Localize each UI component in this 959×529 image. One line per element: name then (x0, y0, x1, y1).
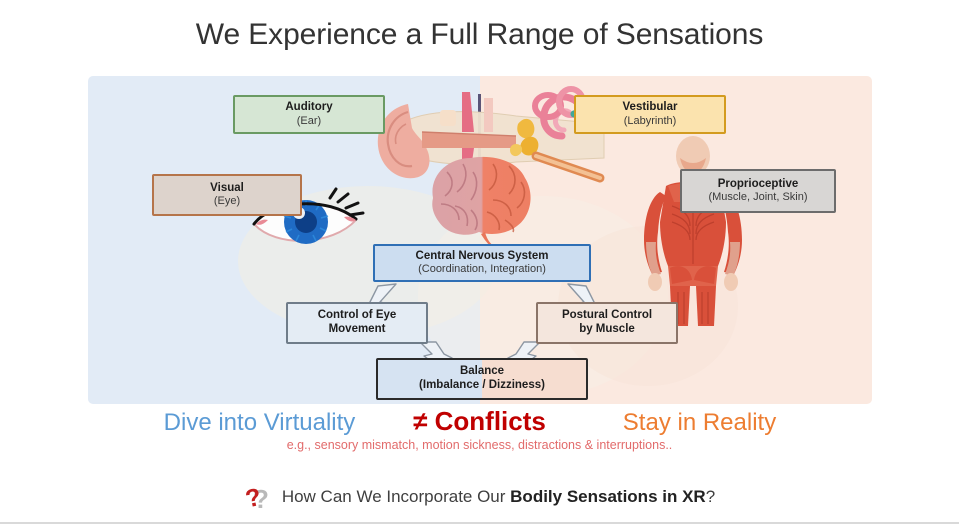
cns-subtitle: (Coordination, Integration) (418, 263, 546, 276)
postural-title: Postural Control (562, 309, 652, 323)
label-box-control-of-eye-movement[interactable]: Control of Eye Movement (286, 302, 428, 344)
page-title: We Experience a Full Range of Sensations (0, 18, 959, 52)
question-mark-icon: ? ? (244, 483, 278, 513)
auditory-title: Auditory (285, 101, 332, 115)
visual-subtitle: (Eye) (214, 195, 240, 208)
question-tail: ? (706, 487, 715, 506)
slide-canvas: We Experience a Full Range of Sensations (0, 0, 959, 529)
postural-subtitle: by Muscle (579, 323, 635, 337)
tagline-row: Dive into Virtuality ≠ Conflicts Stay in… (0, 406, 959, 437)
proprioceptive-title: Proprioceptive (718, 178, 799, 192)
question-lead: How Can We Incorporate Our (282, 487, 510, 506)
vestibular-subtitle: (Labyrinth) (624, 115, 677, 128)
balance-subtitle: (Imbalance / Dizziness) (419, 379, 545, 393)
label-box-balance[interactable]: Balance (Imbalance / Dizziness) (376, 358, 588, 400)
auditory-subtitle: (Ear) (297, 115, 321, 128)
balance-title: Balance (460, 365, 504, 379)
flow-arrows (88, 76, 872, 404)
label-box-proprioceptive[interactable]: Proprioceptive (Muscle, Joint, Skin) (680, 169, 836, 213)
closing-question-row: ? ? How Can We Incorporate Our Bodily Se… (0, 482, 959, 512)
question-emphasis: Bodily Sensations in XR (510, 487, 706, 506)
visual-title: Visual (210, 182, 244, 196)
cns-title: Central Nervous System (416, 250, 549, 264)
tagline-reality: Stay in Reality (575, 409, 825, 437)
tagline-conflicts: ≠ Conflicts (385, 406, 575, 437)
label-box-visual[interactable]: Visual (Eye) (152, 174, 302, 216)
label-box-postural-control[interactable]: Postural Control by Muscle (536, 302, 678, 344)
eye-control-title: Control of Eye (318, 309, 397, 323)
tagline-virtuality: Dive into Virtuality (135, 409, 385, 437)
conflict-examples-caption: e.g., sensory mismatch, motion sickness,… (0, 438, 959, 452)
bottom-divider (0, 522, 959, 524)
label-box-central-nervous-system[interactable]: Central Nervous System (Coordination, In… (373, 244, 591, 282)
closing-question-text: How Can We Incorporate Our Bodily Sensat… (282, 487, 715, 507)
vestibular-title: Vestibular (623, 101, 678, 115)
label-box-auditory[interactable]: Auditory (Ear) (233, 95, 385, 134)
proprioceptive-subtitle: (Muscle, Joint, Skin) (708, 191, 807, 204)
eye-control-subtitle: Movement (329, 323, 386, 337)
sensation-diagram-panel: Auditory (Ear) Vestibular (Labyrinth) Vi… (88, 76, 872, 404)
label-box-vestibular[interactable]: Vestibular (Labyrinth) (574, 95, 726, 134)
